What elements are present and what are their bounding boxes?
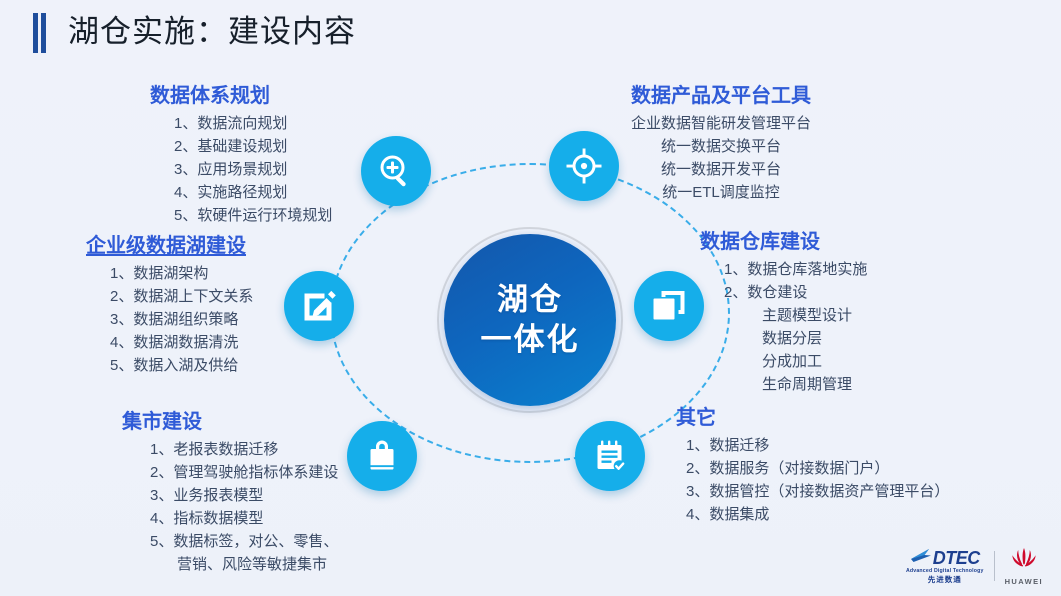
block-others: 其它 1、数据迁移 2、数据服务（对接数据门户） 3、数据管控（对接数据资产管理…	[676, 404, 949, 526]
list-item: 3、业务报表模型	[150, 484, 338, 507]
list-item: 统一数据交换平台	[600, 135, 842, 158]
dtec-logo: DTEC Advanced Digital Technology 先进数通	[906, 548, 984, 584]
list-item: 1、数据流向规划	[174, 112, 332, 135]
bubble-data-warehouse[interactable]	[634, 271, 704, 341]
block-data-mart: 集市建设 1、老报表数据迁移 2、管理驾驶舱指标体系建设 3、业务报表模型 4、…	[122, 408, 338, 576]
center-label-line2: 一体化	[481, 320, 580, 360]
dtec-tagline: Advanced Digital Technology	[906, 569, 984, 574]
block-data-warehouse: 数据仓库建设 1、数据仓库落地实施 2、数仓建设 主题模型设计 数据分层 分成加…	[700, 228, 867, 396]
block-data-system-planning: 数据体系规划 1、数据流向规划 2、基础建设规划 3、应用场景规划 4、实施路径…	[150, 82, 332, 227]
target-crosshair-icon	[565, 147, 603, 185]
list-item: 1、数据湖架构	[110, 262, 253, 285]
center-label-line1: 湖仓	[497, 280, 563, 320]
list-item: 3、数据湖组织策略	[110, 308, 253, 331]
list-item: 分成加工	[724, 350, 867, 373]
list-item: 1、老报表数据迁移	[150, 438, 338, 461]
list-item: 数据分层	[724, 327, 867, 350]
huawei-flower-icon	[1009, 547, 1039, 576]
list-item: 生命周期管理	[724, 373, 867, 396]
logo-divider	[994, 551, 995, 581]
block-heading: 其它	[676, 404, 949, 432]
list-item: 5、软硬件运行环境规划	[174, 204, 332, 227]
dtec-chinese-name: 先进数通	[928, 576, 962, 584]
block-heading: 数据体系规划	[150, 82, 332, 110]
list-item: 2、管理驾驶舱指标体系建设	[150, 461, 338, 484]
list-item: 3、应用场景规划	[174, 158, 332, 181]
list-item: 4、数据湖数据清洗	[110, 331, 253, 354]
block-heading: 数据仓库建设	[700, 228, 867, 256]
bubble-others[interactable]	[575, 421, 645, 491]
list-item: 1、数据迁移	[686, 434, 949, 457]
block-list: 企业数据智能研发管理平台 统一数据交换平台 统一数据开发平台 统一ETL调度监控	[600, 112, 842, 204]
list-item: 5、数据标签，对公、零售、	[150, 530, 338, 553]
list-item: 4、指标数据模型	[150, 507, 338, 530]
center-core-circle: 湖仓 一体化	[444, 234, 616, 406]
block-enterprise-data-lake: 企业级数据湖建设 1、数据湖架构 2、数据湖上下文关系 3、数据湖组织策略 4、…	[86, 232, 253, 377]
list-item: 3、数据管控（对接数据资产管理平台）	[686, 480, 949, 503]
slide-root: 湖仓实施：建设内容 湖仓 一体化	[0, 0, 1061, 596]
huawei-wordmark: HUAWEI	[1005, 577, 1043, 586]
block-heading: 数据产品及平台工具	[600, 82, 842, 110]
huawei-logo: HUAWEI	[1005, 547, 1043, 586]
block-heading: 集市建设	[122, 408, 338, 436]
list-item: 企业数据智能研发管理平台	[600, 112, 842, 135]
edit-pencil-icon	[301, 288, 337, 324]
block-list: 1、数据迁移 2、数据服务（对接数据门户） 3、数据管控（对接数据资产管理平台）…	[676, 434, 949, 526]
list-item: 统一ETL调度监控	[600, 181, 842, 204]
footer-logos: DTEC Advanced Digital Technology 先进数通 HU…	[906, 546, 1043, 586]
block-heading: 企业级数据湖建设	[86, 232, 253, 260]
magnifier-plus-icon	[377, 152, 415, 190]
list-item: 统一数据开发平台	[600, 158, 842, 181]
bubble-enterprise-data-lake[interactable]	[284, 271, 354, 341]
list-item: 2、数据服务（对接数据门户）	[686, 457, 949, 480]
list-item: 2、基础建设规划	[174, 135, 332, 158]
dtec-wordmark: DTEC	[933, 549, 980, 567]
list-item: 4、实施路径规划	[174, 181, 332, 204]
list-item: 1、数据仓库落地实施	[724, 258, 867, 281]
list-item: 2、数仓建设	[724, 281, 867, 304]
list-item: 4、数据集成	[686, 503, 949, 526]
shopping-bag-icon	[364, 438, 400, 474]
copy-layers-icon	[651, 288, 687, 324]
block-list: 1、老报表数据迁移 2、管理驾驶舱指标体系建设 3、业务报表模型 4、指标数据模…	[122, 438, 338, 576]
block-list: 1、数据湖架构 2、数据湖上下文关系 3、数据湖组织策略 4、数据湖数据清洗 5…	[86, 262, 253, 377]
list-item: 营销、风险等敏捷集市	[150, 553, 338, 576]
bubble-data-system-planning[interactable]	[361, 136, 431, 206]
block-data-products-platform: 数据产品及平台工具 企业数据智能研发管理平台 统一数据交换平台 统一数据开发平台…	[600, 82, 842, 204]
checklist-notepad-icon	[592, 438, 628, 474]
list-item: 2、数据湖上下文关系	[110, 285, 253, 308]
block-list: 1、数据流向规划 2、基础建设规划 3、应用场景规划 4、实施路径规划 5、软硬…	[150, 112, 332, 227]
list-item: 5、数据入湖及供给	[110, 354, 253, 377]
bubble-data-mart[interactable]	[347, 421, 417, 491]
block-list: 1、数据仓库落地实施 2、数仓建设 主题模型设计 数据分层 分成加工 生命周期管…	[700, 258, 867, 396]
list-item: 主题模型设计	[724, 304, 867, 327]
dtec-arrow-icon	[910, 548, 932, 567]
